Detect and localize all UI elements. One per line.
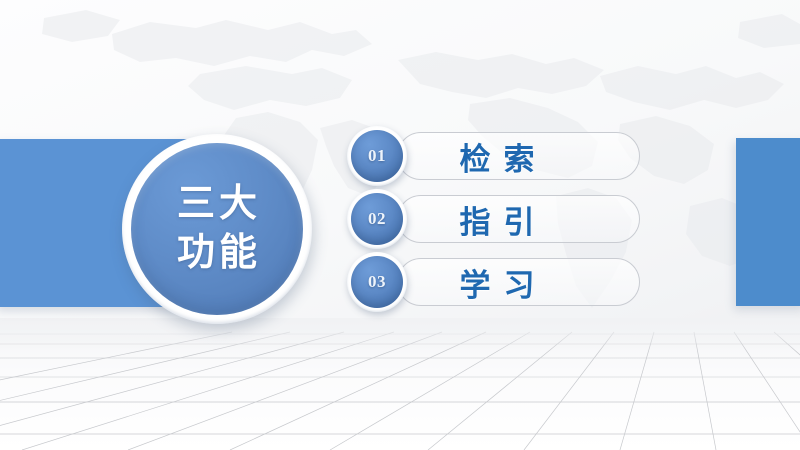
number-text-01: 01: [368, 146, 386, 166]
main-circle-body: 三大 功能: [131, 143, 303, 315]
number-circle-02[interactable]: 02: [351, 193, 403, 245]
perspective-grid-floor: [0, 318, 800, 450]
main-title-circle[interactable]: 三大 功能: [122, 134, 312, 324]
feature-item-02[interactable]: 指引 02: [347, 189, 647, 249]
slide-canvas: 三大 功能 检索 01 指引 02 学习: [0, 0, 800, 450]
feature-item-03[interactable]: 学习 03: [347, 252, 647, 312]
number-circle-01[interactable]: 01: [351, 130, 403, 182]
main-title-line-1: 三大: [173, 180, 261, 229]
number-ring-02: 02: [347, 189, 407, 249]
feature-item-01[interactable]: 检索 01: [347, 126, 647, 186]
number-ring-01: 01: [347, 126, 407, 186]
feature-list: 检索 01 指引 02 学习 03: [347, 126, 647, 316]
main-title-line-2: 功能: [173, 229, 261, 278]
right-blue-bar: [736, 138, 800, 306]
number-text-03: 03: [368, 272, 386, 292]
number-text-02: 02: [368, 209, 386, 229]
feature-label-01: 检索: [397, 132, 597, 180]
feature-label-03: 学习: [397, 258, 597, 306]
number-circle-03[interactable]: 03: [351, 256, 403, 308]
floor-fade: [0, 318, 800, 352]
number-ring-03: 03: [347, 252, 407, 312]
feature-label-02: 指引: [397, 195, 597, 243]
